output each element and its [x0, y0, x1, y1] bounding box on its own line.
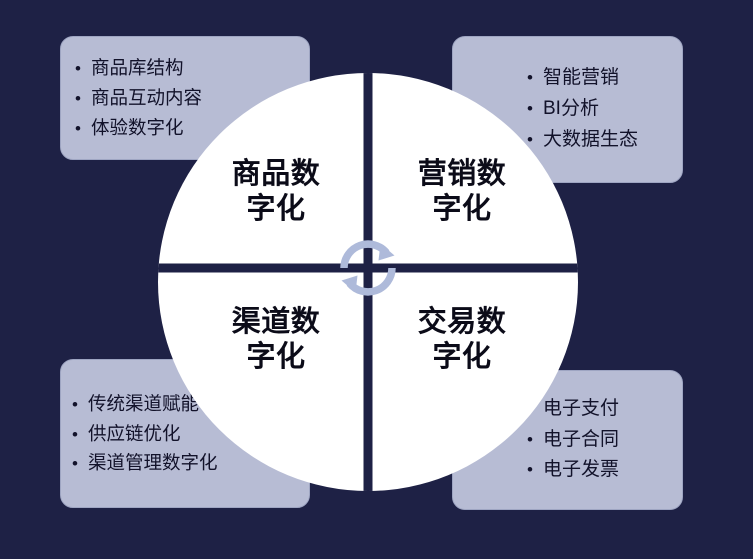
bullet-icon: • — [527, 431, 543, 448]
list-item-label: 渠道管理数字化 — [88, 448, 218, 478]
list-item: • 智能营销 — [527, 63, 682, 94]
callout-card-product[interactable]: • 商品库结构 • 商品互动内容 • 体验数字化 — [60, 36, 310, 160]
list-item-label: 电子发票 — [543, 455, 619, 486]
list-item: • 电子发票 — [527, 455, 682, 486]
list-item-label: 商品互动内容 — [91, 83, 202, 113]
bullet-icon: • — [527, 131, 543, 148]
divider-vertical — [364, 73, 373, 491]
bullet-icon: • — [75, 60, 91, 77]
list-item: • 商品库结构 — [75, 53, 309, 83]
quadrant-label-marketing: 营销数 字化 — [397, 157, 527, 228]
bullet-icon: • — [527, 400, 543, 417]
list-item-label: 电子合同 — [543, 425, 619, 456]
quadrant-label-channel: 渠道数 字化 — [211, 305, 341, 376]
bullet-icon: • — [527, 461, 543, 478]
callout-card-transaction[interactable]: • 电子支付 • 电子合同 • 电子发票 — [452, 370, 683, 510]
list-item-label: 体验数字化 — [91, 113, 184, 143]
divider-horizontal — [158, 264, 578, 273]
callout-card-channel[interactable]: • 传统渠道赋能 • 供应链优化 • 渠道管理数字化 — [60, 359, 310, 508]
bullet-icon: • — [527, 69, 543, 86]
list-item: • 传统渠道赋能 — [72, 389, 309, 419]
bullet-icon: • — [75, 90, 91, 107]
list-item-label: 商品库结构 — [91, 53, 184, 83]
list-item: • 体验数字化 — [75, 113, 309, 143]
bullet-icon: • — [527, 100, 543, 117]
list-item: • 供应链优化 — [72, 419, 309, 449]
cycle-arrows-icon — [342, 244, 395, 293]
diagram-canvas: • 商品库结构 • 商品互动内容 • 体验数字化 • 智能营销 • BI分析 — [0, 0, 753, 559]
bullet-icon: • — [75, 120, 91, 137]
list-item: • 渠道管理数字化 — [72, 448, 309, 478]
bullet-list: • 电子支付 • 电子合同 • 电子发票 — [527, 394, 682, 486]
list-item-label: 智能营销 — [543, 63, 619, 94]
list-item-label: BI分析 — [543, 94, 599, 125]
bullet-list: • 传统渠道赋能 • 供应链优化 • 渠道管理数字化 — [72, 389, 309, 479]
quadrant-label-product: 商品数 字化 — [211, 157, 341, 228]
bullet-list: • 商品库结构 • 商品互动内容 • 体验数字化 — [75, 53, 309, 143]
list-item-label: 传统渠道赋能 — [88, 389, 199, 419]
bullet-icon: • — [72, 455, 88, 472]
list-item: • 电子合同 — [527, 425, 682, 456]
list-item: • BI分析 — [527, 94, 682, 125]
bullet-list: • 智能营销 • BI分析 • 大数据生态 — [527, 63, 682, 155]
list-item-label: 大数据生态 — [543, 125, 638, 156]
bullet-icon: • — [72, 396, 88, 413]
bullet-icon: • — [72, 426, 88, 443]
list-item-label: 电子支付 — [543, 394, 619, 425]
list-item: • 商品互动内容 — [75, 83, 309, 113]
list-item: • 大数据生态 — [527, 125, 682, 156]
list-item: • 电子支付 — [527, 394, 682, 425]
quadrant-label-transaction: 交易数 字化 — [397, 305, 527, 376]
list-item-label: 供应链优化 — [88, 419, 181, 449]
